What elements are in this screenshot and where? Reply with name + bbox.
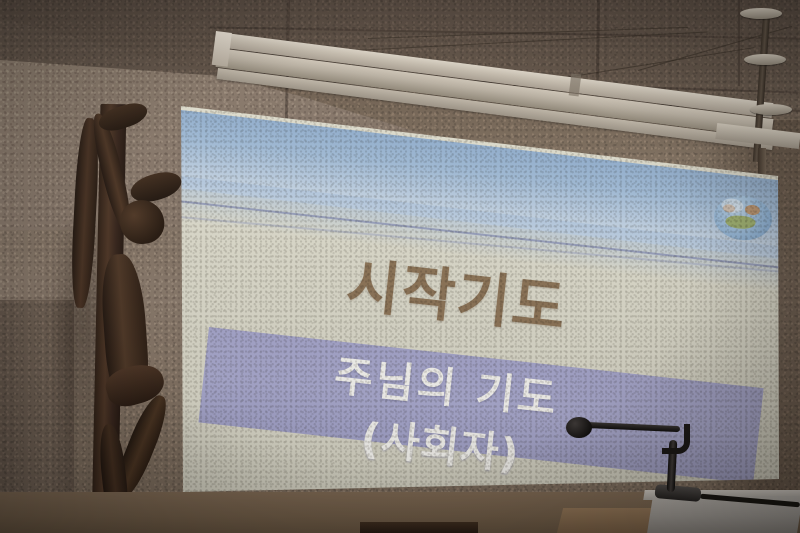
dark-object-below-screen [360,522,478,533]
hanger-disc [740,8,782,19]
microphone-head [566,417,592,438]
photo-scene: 시작기도 주님의 기도 (사회자) [0,0,800,533]
hanger-disc [750,104,792,115]
hanger-disc [744,54,786,65]
crucifix-sculpture [44,104,184,533]
